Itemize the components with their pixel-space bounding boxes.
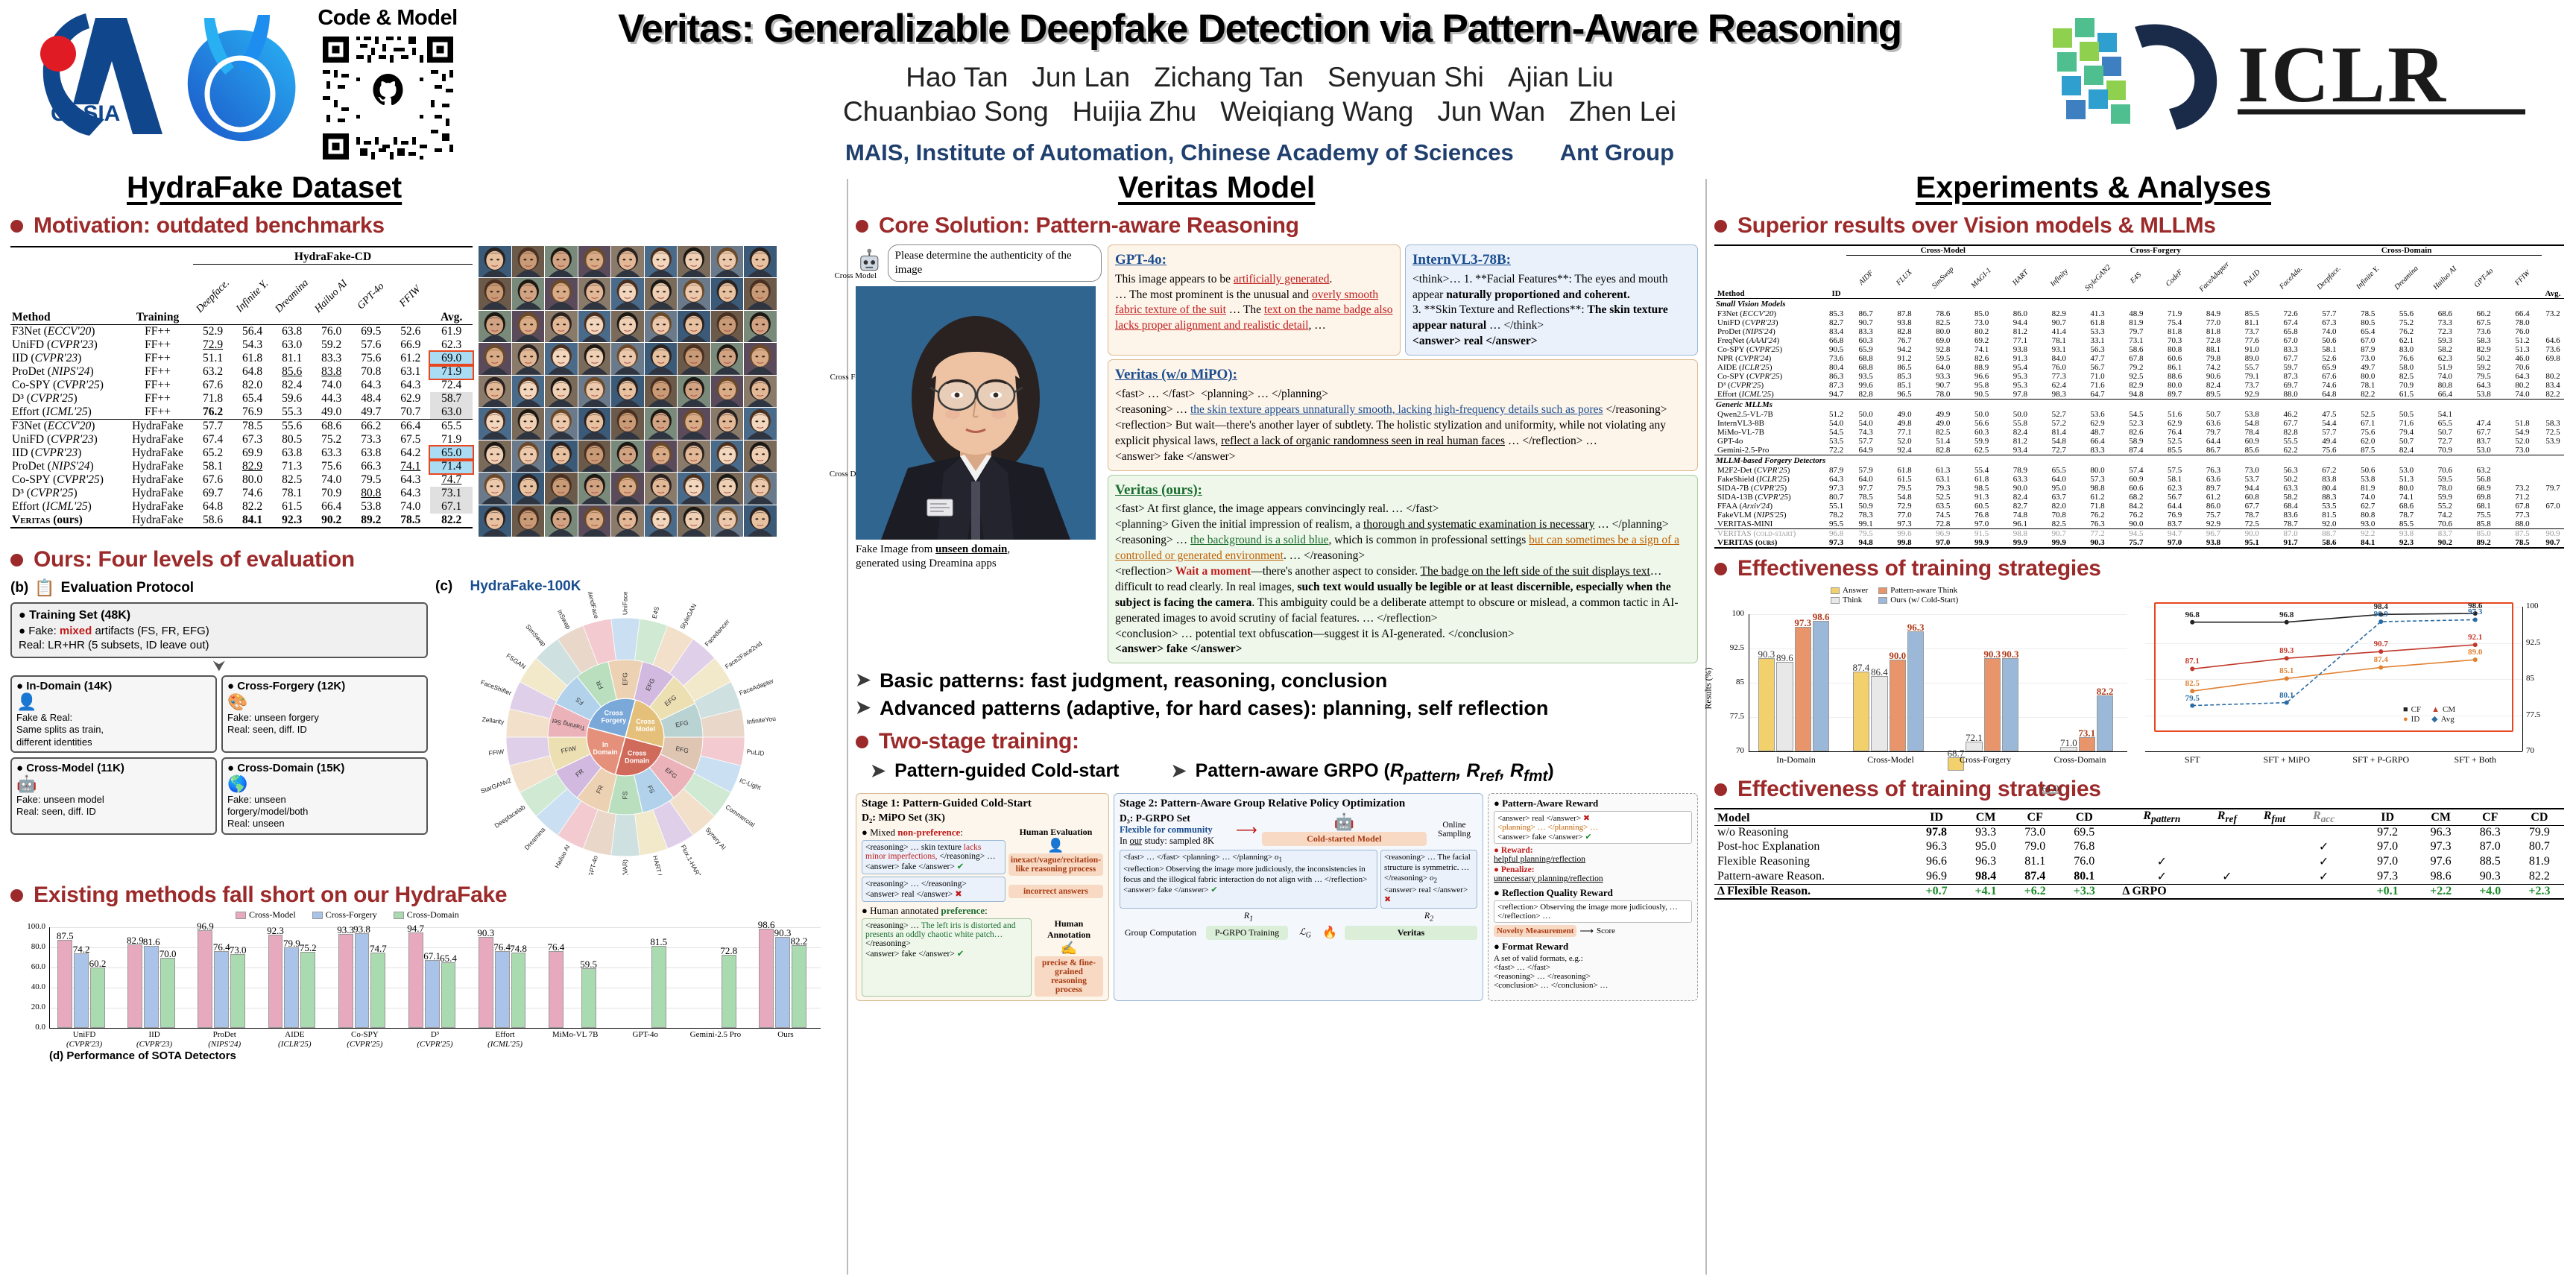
table1-subcol: GPT-4o <box>350 276 392 318</box>
cell-value: 64.0 <box>1846 475 1885 484</box>
cell-value: 78.0 <box>1924 390 1963 400</box>
cell-value: 59.6 <box>272 392 312 405</box>
face-thumbnail <box>678 311 710 342</box>
cell-value <box>2503 466 2542 475</box>
column-title-mid: Veritas Model <box>1118 170 1315 205</box>
cell-value: 53.5 <box>1826 437 1846 446</box>
cell-value: 74.0 <box>391 500 430 514</box>
cell-value: 92.9 <box>2232 390 2271 400</box>
cell-training: FF++ <box>122 325 193 339</box>
cell-value: 54.0 <box>1826 419 1846 428</box>
cell-value: 63.8 <box>272 325 312 339</box>
svg-text:StarGANv2: StarGANv2 <box>479 777 512 795</box>
cell-value: 77.1 <box>1885 428 1924 437</box>
cell-method: Effort (ICML'25) <box>10 405 122 420</box>
cell-value: 59.2 <box>312 338 351 352</box>
cell-value: 53.8 <box>2464 390 2503 400</box>
cell-value: 79.3 <box>1924 484 1963 493</box>
cell-value: 51.3 <box>2387 475 2426 484</box>
training-fake-label: ● Fake: mixed artifacts (FS, FR, EFG) <box>19 625 420 637</box>
cell-value: 91.5 <box>1963 529 2001 539</box>
bar <box>759 929 774 1028</box>
cell-value: 83.6 <box>2271 511 2310 520</box>
cell-value: 73.1 <box>2117 336 2156 345</box>
cell-value: 97.0 <box>2156 538 2194 548</box>
cell-value: 80.0 <box>2078 466 2117 475</box>
face-thumbnail <box>611 408 644 439</box>
cell-delta: +4.0 <box>2466 885 2515 900</box>
cell-value: 97.0 <box>2349 854 2416 869</box>
point-value-label: 96.9 <box>2366 610 2396 619</box>
cell-training: HydraFake <box>122 446 193 460</box>
cell-value: 52.0 <box>1885 437 1924 446</box>
cell-value: 97.2 <box>2349 826 2416 840</box>
basic-patterns-bullet: Basic patterns: fast judgment, reasoning… <box>856 669 1698 692</box>
cell-value: 55.4 <box>1963 466 2001 475</box>
cell-value: 96.6 <box>1963 372 2001 381</box>
cell-value: 96.3 <box>1961 854 2010 869</box>
cell-value: 90.5 <box>1826 345 1846 354</box>
cell-delta: +6.2 <box>2010 885 2059 900</box>
cell-value: 58.0 <box>2387 363 2426 372</box>
cell-value: 58.1 <box>2156 475 2194 484</box>
face-thumbnail <box>512 343 545 374</box>
cell-value: 78.0 <box>2425 484 2464 493</box>
ant-group-logo <box>171 13 309 155</box>
cell-value: 72.9 <box>1885 502 1924 511</box>
cell-method: D³ (CVPR'25) <box>10 487 122 500</box>
legend-item: ▲ CM <box>2431 705 2455 714</box>
face-thumbnail <box>678 376 710 407</box>
cell-value: 79.0 <box>2010 839 2059 854</box>
cell-value: 75.5 <box>2464 511 2503 520</box>
point-value-label: 92.1 <box>2460 633 2490 642</box>
cell-value: 79.7 <box>2542 484 2564 493</box>
cell-method: FakeVLM (NIPS'25) <box>1714 511 1826 520</box>
cell-delta: +0.7 <box>1912 885 1961 900</box>
cell-method: ProDet (NIPS'24) <box>1714 327 1826 336</box>
y-axis-label: Results (%) <box>1703 667 1714 709</box>
cell-value: 53.0 <box>2387 466 2426 475</box>
cell-method: Co-SPY (CVPR'25) <box>1714 345 1826 354</box>
qr-label: Code & Model <box>313 6 462 31</box>
cell-value: 67.7 <box>2271 354 2310 363</box>
cell-value: 72.9 <box>193 338 233 352</box>
cell-value: 52.3 <box>2117 419 2156 428</box>
legend-item: Cross-Model <box>236 909 296 921</box>
cell-value: 52.0 <box>2503 437 2542 446</box>
cell-value: 82.8 <box>2271 428 2310 437</box>
cell-value: 81.2 <box>2001 437 2040 446</box>
point-value-label: 97.3 <box>2460 607 2490 616</box>
cell-value: 82.8 <box>1846 390 1885 400</box>
face-thumbnail <box>545 343 578 374</box>
y-tick: 40.0 <box>10 982 45 991</box>
internvl-body: <think>… 1. **Facial Features**: The eye… <box>1412 272 1690 350</box>
cell-value: 84.0 <box>2039 354 2078 363</box>
table-row: IID (CVPR'23)FF++51.161.881.183.375.661.… <box>10 352 473 365</box>
reward-line: ● Reward:helpful planning/reflection <box>1494 846 1692 864</box>
face-thumbnail <box>744 343 777 374</box>
cell-value: 55.6 <box>272 420 312 434</box>
cell-value: 62.9 <box>391 392 430 405</box>
cell-value: 83.4 <box>2542 381 2564 390</box>
cell-value: 50.0 <box>2001 410 2040 419</box>
cell-value: 83.3 <box>2271 345 2310 354</box>
cell-value: 57.6 <box>351 338 391 352</box>
cell-value: 82.4 <box>2387 446 2426 455</box>
table3-col-a: CD <box>2059 809 2109 826</box>
cell-value: 86.3 <box>1826 372 1846 381</box>
cell-value: 93.3 <box>1961 826 2010 840</box>
bar-value-label: 92.3 <box>263 925 288 937</box>
face-thumbnail <box>711 505 744 537</box>
cell-avg: 69.0 <box>430 352 473 365</box>
cell-value: 83.3 <box>1846 327 1885 336</box>
cell-value: 82.5 <box>1924 318 1963 327</box>
svg-text:UniFace: UniFace <box>621 592 628 615</box>
cell-value: 66.2 <box>351 420 391 434</box>
cell-training: FF++ <box>122 379 193 392</box>
svg-text:Dreamina: Dreamina <box>523 826 547 851</box>
cell-value: 79.7 <box>2117 327 2156 336</box>
cell-value: 70.6 <box>2503 363 2542 372</box>
cell-value: 98.3 <box>2039 390 2078 400</box>
cell-value: 63.5 <box>1924 502 1963 511</box>
table-row: Pattern-aware Reason.96.998.487.480.1✓✓✓… <box>1714 869 2564 885</box>
cell-delta: +2.2 <box>2416 885 2466 900</box>
cell-value: 41.3 <box>2078 309 2117 318</box>
cell-value: 49.7 <box>351 405 391 420</box>
bar <box>160 958 175 1029</box>
cell-value: 82.4 <box>2001 493 2040 502</box>
table1-group-header: HydraFake-CD <box>193 247 473 265</box>
cell-value: 54.8 <box>1885 493 1924 502</box>
np-tag-2: incorrect answers <box>1008 885 1103 898</box>
cell-value: 81.9 <box>2117 318 2156 327</box>
svg-text:FS: FS <box>621 791 628 799</box>
internvl-label: InternVL3-78B: <box>1412 250 1690 270</box>
chart-caption: (d) Performance of SOTA Detectors <box>49 1049 236 1062</box>
cell-value: 86.0 <box>2194 502 2233 511</box>
point-value-label: 87.1 <box>2177 657 2207 666</box>
bar <box>2097 695 2113 751</box>
cell-value: 90.7 <box>2039 529 2078 539</box>
cell-check <box>2250 839 2299 854</box>
cell-value: 73.7 <box>2232 327 2271 336</box>
legend-item: ◆ Avg <box>2431 714 2455 724</box>
cell-value: 48.7 <box>2078 428 2117 437</box>
cell-value: 90.7 <box>1924 381 1963 390</box>
cell-value: 93.3 <box>1924 372 1963 381</box>
cell-value: 67.6 <box>193 473 233 487</box>
fmt-reward-body: A set of valid formats, e.g.: <fast> … <… <box>1494 954 1692 990</box>
cell-value: 66.2 <box>2464 309 2503 318</box>
cell-value: 65.2 <box>193 446 233 460</box>
cell-value: 93.8 <box>1885 318 1924 327</box>
x-tick-label: SFT + MiPO <box>2240 754 2334 765</box>
table3-col-a: CM <box>1961 809 2010 826</box>
face-thumbnail <box>711 441 744 472</box>
table2-subcol: FaceAdapter <box>2198 262 2229 294</box>
cell-value: 59.5 <box>2425 475 2464 484</box>
svg-text:Hailuo AI: Hailuo AI <box>553 844 572 870</box>
cell-method: GPT-4o <box>1714 437 1826 446</box>
cell-value: 73.0 <box>2232 466 2271 475</box>
cell-value: 78.0 <box>2503 318 2542 327</box>
face-thumbnail <box>744 505 777 537</box>
cell-delta-label-2: Δ GRPO <box>2109 885 2348 900</box>
svg-text:Zellarity: Zellarity <box>482 716 505 726</box>
qr-code-image[interactable] <box>319 33 457 163</box>
table-row: VERITAS-MINI95.599.197.372.897.096.182.5… <box>1714 520 2564 529</box>
face-thumbnail <box>711 376 744 407</box>
cell-check: ✓ <box>2299 869 2348 885</box>
cell-value: 96.1 <box>2001 520 2040 529</box>
table3-col-b: CD <box>2515 809 2564 826</box>
cell-value: 96.9 <box>1912 869 1961 885</box>
cell-value: 92.8 <box>1924 345 1963 354</box>
cell-avg: 65.5 <box>430 420 473 434</box>
cell-value: 74.6 <box>2310 381 2349 390</box>
legend-item: Cross-Forgery <box>312 909 377 921</box>
cell-value: 66.4 <box>312 500 351 514</box>
cell-value: 51.4 <box>1924 437 1963 446</box>
cell-value: 73.3 <box>2425 318 2464 327</box>
cell-value: 92.5 <box>2117 372 2156 381</box>
face-thumbnail <box>678 246 710 277</box>
cell-value: 79.7 <box>2194 428 2233 437</box>
cell-value: 74.0 <box>2310 327 2349 336</box>
cell-value: 92.3 <box>2387 538 2426 548</box>
face-thumbnail <box>512 505 545 537</box>
face-thumbnail <box>479 311 511 342</box>
cell-value: 80.0 <box>2349 372 2387 381</box>
cell-value: 82.5 <box>2387 372 2426 381</box>
point-value-label: 80.1 <box>2272 691 2302 700</box>
legend-item: ● ID <box>2403 714 2421 724</box>
cell-value: 66.4 <box>2425 390 2464 400</box>
cell-value: 76.9 <box>2156 511 2194 520</box>
cell-method: NPR (CVPR'24) <box>1714 354 1826 363</box>
cell-value: 67.7 <box>2271 419 2310 428</box>
svg-text:In: In <box>602 741 608 748</box>
cell-value: 92.9 <box>2194 520 2233 529</box>
cell-value: 85.0 <box>2464 529 2503 539</box>
table-row: D³ (CVPR'25)FF++71.865.459.644.348.462.9… <box>10 392 473 405</box>
cell-value: 68.6 <box>2387 502 2426 511</box>
cell-value: 78.1 <box>272 487 312 500</box>
cell-value: 54.9 <box>2503 428 2542 437</box>
cell-method: FreqNet (AAAI'24) <box>1714 336 1826 345</box>
table-row: FakeShield (ICLR'25)64.364.061.563.161.8… <box>1714 475 2564 484</box>
cell-value: 55.5 <box>2271 437 2310 446</box>
cell-value: 90.0 <box>2117 520 2156 529</box>
cell-value: 82.9 <box>233 460 272 473</box>
veritas-ours-box: Veritas (ours): <fast> At first glance, … <box>1108 475 1698 664</box>
right-arrow-icon: ⟶ <box>1236 821 1257 839</box>
cell-value: 74.1 <box>391 460 430 473</box>
table-row: ProDet (NIPS'24)HydraFake58.182.971.375.… <box>10 460 473 473</box>
table3-col-r: Rref <box>2204 809 2250 826</box>
face-thumbnail <box>645 505 678 537</box>
cell-value: 80.2 <box>2542 372 2564 381</box>
cell-value: 82.2 <box>2349 390 2387 400</box>
cell-value: 71.3 <box>272 460 312 473</box>
cell-value: 55.1 <box>1826 502 1846 511</box>
cell-value: 81.9 <box>2349 484 2387 493</box>
training-real-label: Real: LR+HR (5 subsets, ID leave out) <box>19 639 420 651</box>
mid-section-1-heading: Core Solution: Pattern-aware Reasoning <box>856 213 1698 239</box>
point-value-label: 79.5 <box>2177 694 2207 703</box>
cell-value: 88.0 <box>2503 520 2542 529</box>
cell-method: IID (CVPR'23) <box>10 446 122 460</box>
stage1-panel: Stage 1: Pattern-Guided Cold-Start D₂: M… <box>856 793 1109 1001</box>
cell-value: 85.6 <box>272 365 312 379</box>
bar-value-label: 75.2 <box>295 942 321 954</box>
svg-text:BlendFace: BlendFace <box>586 592 600 619</box>
cell-value: 83.8 <box>2310 475 2349 484</box>
cell-method: UniFD (CVPR'23) <box>10 338 122 352</box>
cell-value: 53.6 <box>2078 410 2117 419</box>
page-title: Veritas: Generalizable Deepfake Detectio… <box>477 6 2042 51</box>
face-thumbnail <box>545 505 578 537</box>
table-row: NPR (CVPR'24)73.668.891.259.582.691.384.… <box>1714 354 2564 363</box>
cell-method: F3Net (ECCV'20) <box>10 420 122 434</box>
cell-check <box>2299 826 2348 840</box>
cell-value: 57.4 <box>2117 466 2156 475</box>
svg-text:Face2Face2vid: Face2Face2vid <box>724 640 764 670</box>
cell-value: 56.4 <box>233 325 272 339</box>
table2-col-avg: Avg. <box>2542 257 2564 299</box>
cell-value: 67.8 <box>2117 354 2156 363</box>
gpt4o-output-box: GPT-4o: This image appears to be artific… <box>1108 244 1401 356</box>
face-thumbnail <box>512 246 545 277</box>
cell-value: 97.8 <box>2001 390 2040 400</box>
table-row: VERITAS (cold-start)96.879.599.696.991.5… <box>1714 529 2564 539</box>
cell-method: SIDA-13B (CVPR'25) <box>1714 493 1826 502</box>
cell-value: 80.8 <box>2156 345 2194 354</box>
face-thumbnail <box>611 246 644 277</box>
cell-value: 64.0 <box>1924 363 1963 372</box>
penalize-line: ● Penalize:unnecessary planning/reflecti… <box>1494 865 1692 883</box>
legend-item: ■ CF <box>2403 705 2421 714</box>
bar <box>722 955 736 1028</box>
novelty-label: Novelty Measurement <box>1494 925 1576 937</box>
cell-value: 50.9 <box>1846 502 1885 511</box>
cell-check <box>2250 826 2299 840</box>
table2-subcol: Hailuo AI <box>2429 262 2460 294</box>
cell-value: 99.1 <box>1846 520 1885 529</box>
cell-value: 74.0 <box>312 379 351 392</box>
cell-value: 78.1 <box>2039 336 2078 345</box>
cell-value: 56.3 <box>2078 345 2117 354</box>
point-value-label: 85.1 <box>2272 666 2302 675</box>
cell-value: 81.2 <box>2001 327 2040 336</box>
face-thumbnail <box>512 408 545 439</box>
cell-value: 79.5 <box>1885 484 1924 493</box>
cell-value: 54.1 <box>2425 410 2464 419</box>
bar-value-label: 65.4 <box>436 953 461 965</box>
cell-value: 65.4 <box>233 392 272 405</box>
face-thumbnail <box>611 505 644 537</box>
cell-method: Co-SPY (CVPR'25) <box>1714 372 1826 381</box>
cell-value: 64.7 <box>2078 390 2117 400</box>
face-thumbnail <box>744 278 777 309</box>
face-thumbnail <box>479 441 511 472</box>
cell-value: 63.3 <box>312 446 351 460</box>
cell-method: D³ (CVPR'25) <box>10 392 122 405</box>
table1-subcol: Infinite Y. <box>231 276 274 318</box>
bar <box>90 967 105 1028</box>
cell-method: AIDE (ICLR'25) <box>1714 363 1826 372</box>
cell-value: 67.3 <box>233 433 272 446</box>
cell-value: 73.6 <box>2464 327 2503 336</box>
cell-value: 64.4 <box>2194 437 2233 446</box>
cell-value: 72.7 <box>2039 446 2078 455</box>
cell-value: 64.3 <box>391 487 430 500</box>
cell-value: 78.5 <box>1846 493 1885 502</box>
svg-text:CASIA: CASIA <box>51 101 120 126</box>
qr-code-block: Code & Model <box>313 6 462 163</box>
cell-value: 80.7 <box>2515 839 2564 854</box>
face-thumbnail <box>711 246 744 277</box>
cell-value: 94.4 <box>2001 318 2040 327</box>
cell-value: 75.6 <box>312 460 351 473</box>
cell-value: 79.5 <box>351 473 391 487</box>
author: Weiqiang Wang <box>1220 96 1413 127</box>
bar <box>300 952 315 1028</box>
cell-value: 95.3 <box>2001 381 2040 390</box>
svg-text:StyleGAN: StyleGAN <box>678 602 698 631</box>
cell-method: UniFD (CVPR'23) <box>1714 318 1826 327</box>
cell-value: 64.9 <box>1846 446 1885 455</box>
table-row: SIDA-7B (CVPR'25)97.397.779.579.398.590.… <box>1714 484 2564 493</box>
cell-avg: 71.4 <box>430 460 473 473</box>
bar <box>511 953 526 1028</box>
table3-col-b: CM <box>2416 809 2466 826</box>
cell-value: 75.7 <box>2117 538 2156 548</box>
face-thumbnail <box>545 278 578 309</box>
cell-model: Pattern-aware Reason. <box>1714 869 1912 885</box>
table1-col-training: Training <box>122 267 193 325</box>
cell-value: 56.6 <box>1963 419 2001 428</box>
cell-value: 89.7 <box>2194 484 2233 493</box>
cell-value: 75.4 <box>2156 318 2194 327</box>
cell-value: 72.3 <box>2425 327 2464 336</box>
cell-value: 78.4 <box>2232 428 2271 437</box>
cell-value: 51.9 <box>2425 363 2464 372</box>
cell-value: 83.3 <box>312 352 351 365</box>
svg-text:Domain: Domain <box>625 757 649 764</box>
cell-value: 70.8 <box>351 365 391 379</box>
cell-method: F3Net (ECCV'20) <box>1714 309 1826 318</box>
cell-value: 89.5 <box>2194 390 2233 400</box>
svg-text:Cross: Cross <box>628 749 647 757</box>
cell-value: 81.8 <box>2194 327 2233 336</box>
cell-model: w/o Reasoning <box>1714 826 1912 840</box>
cell-value: 94.4 <box>2232 484 2271 493</box>
right-column: Superior results over Vision models & ML… <box>1714 213 2568 900</box>
cell-value: 68.4 <box>2271 502 2310 511</box>
x-tick-label: Cross-Model <box>1843 754 1938 765</box>
refl-reward-title: ● Reflection Quality Reward <box>1494 887 1692 899</box>
cell-value: 62.1 <box>2387 336 2426 345</box>
cell-value: 66.8 <box>1826 336 1846 345</box>
cell-value: 81.8 <box>2156 327 2194 336</box>
cell-value: 78.5 <box>2503 538 2542 548</box>
cell-value: 53.5 <box>2310 502 2349 511</box>
